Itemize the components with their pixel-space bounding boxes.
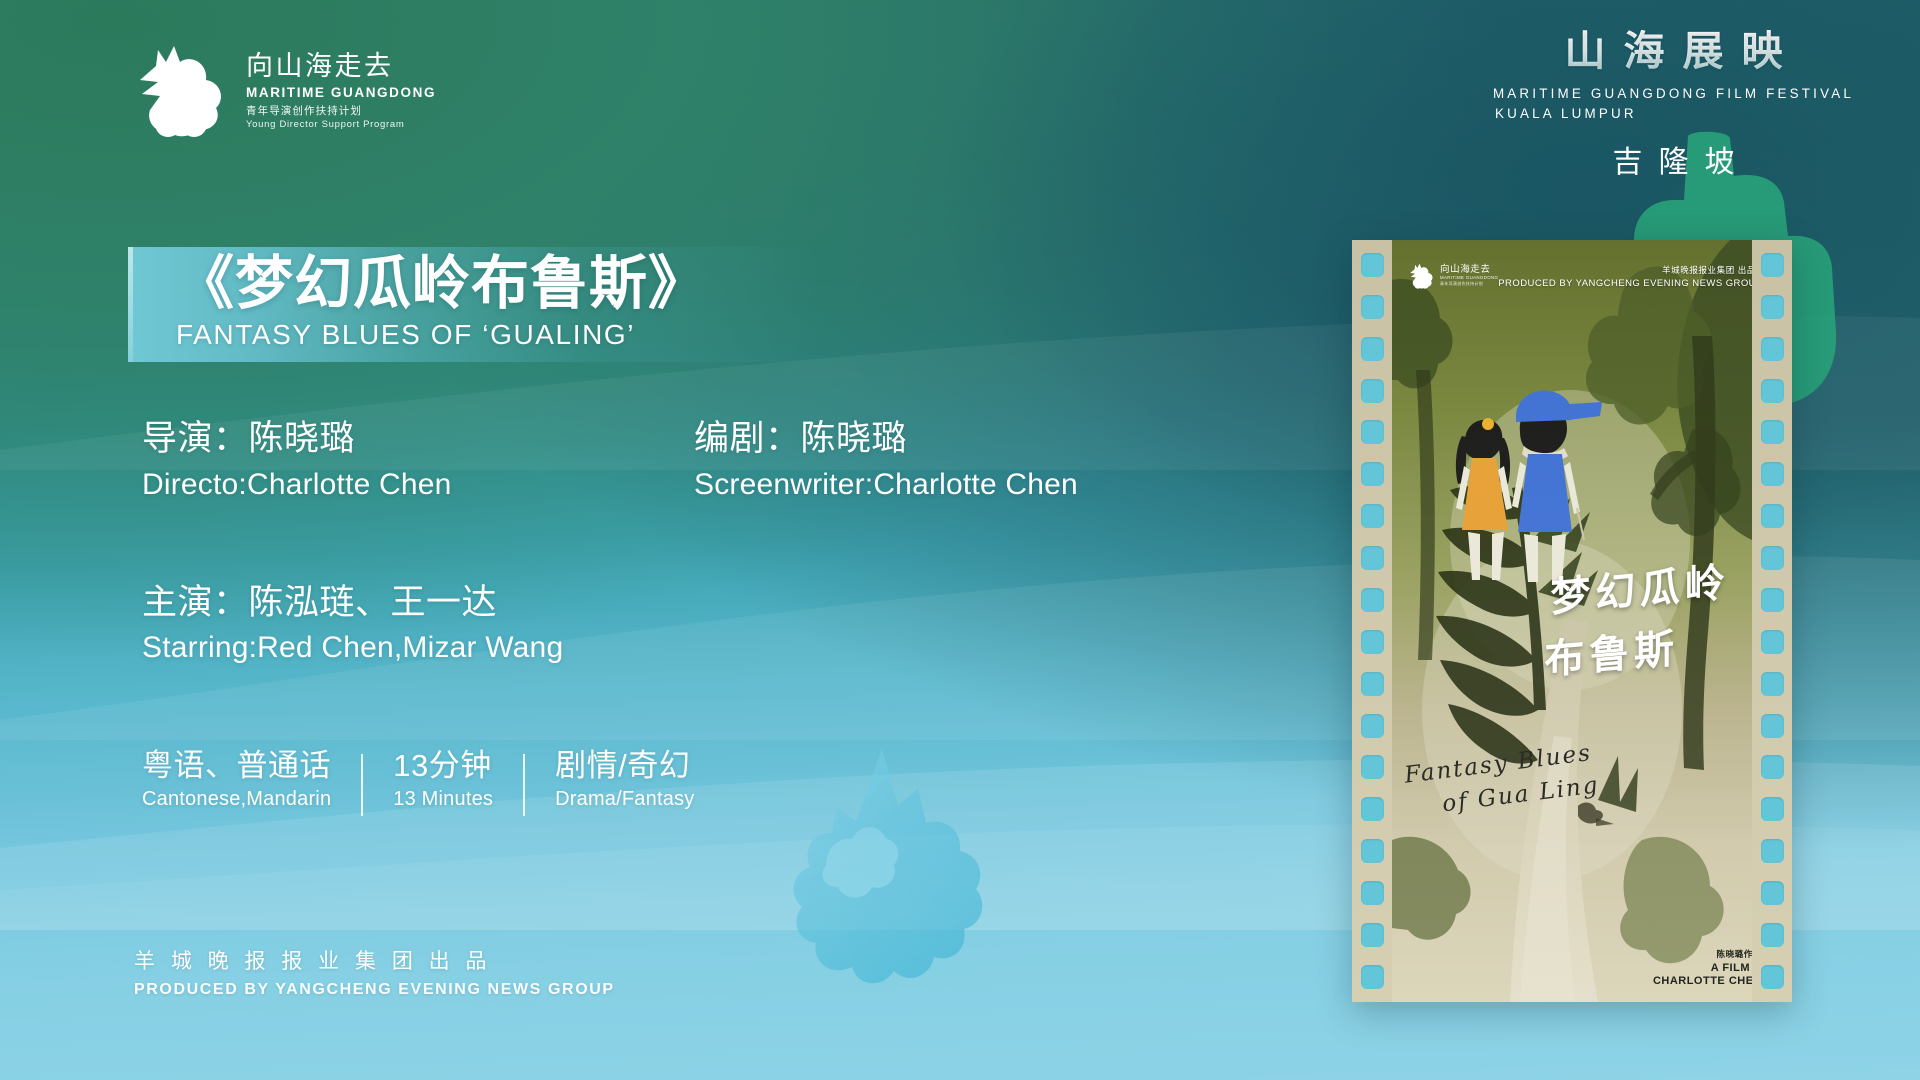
poster-title-cn: 梦幻瓜岭 布鲁斯	[1550, 570, 1740, 672]
poster-director-credit: 陈晓璐作品 A FILM B CHARLOTTE CHEN	[1653, 948, 1752, 988]
poster-cloud-mountain-logo-icon	[1408, 262, 1435, 289]
film-perforation	[1761, 881, 1784, 905]
poster-director-cn: 陈晓璐作品	[1653, 948, 1752, 960]
film-perforations-right	[1757, 240, 1787, 1002]
film-perforation	[1361, 546, 1384, 570]
credit-screenwriter-en: Screenwriter:Charlotte Chen	[694, 465, 1078, 504]
film-perforation	[1761, 923, 1784, 947]
credit-starring-cn: 主演：陈泓琏、王一达	[142, 582, 563, 625]
credit-director: 导演：陈晓璐 Directo:Charlotte Chen	[142, 418, 694, 504]
film-perforation	[1361, 588, 1384, 612]
cloud-watermark-icon	[782, 745, 992, 1010]
credit-row: 主演：陈泓琏、王一达 Starring:Red Chen,Mizar Wang	[142, 582, 1272, 668]
festival-name-cn: 山海展映	[1493, 30, 1854, 73]
film-perforation	[1361, 295, 1384, 319]
film-title-en: FANTASY BLUES OF ‘GUALING’	[176, 319, 707, 351]
film-perforation	[1361, 420, 1384, 444]
meta-duration-cn: 13分钟	[393, 748, 493, 785]
credit-screenwriter: 编剧：陈晓璐 Screenwriter:Charlotte Chen	[694, 418, 1078, 504]
meta-duration-en: 13 Minutes	[393, 788, 493, 811]
meta-divider	[523, 754, 525, 816]
meta-genre: 剧情/奇幻 Drama/Fantasy	[555, 748, 694, 811]
brand-subtitle-cn: 青年导演创作扶持计划	[246, 106, 436, 117]
credit-director-cn: 导演：陈晓璐	[142, 418, 694, 461]
credit-director-en: Directo:Charlotte Chen	[142, 465, 694, 504]
meta-divider	[361, 754, 363, 816]
cloud-mountain-logo-icon	[132, 40, 230, 138]
film-perforation	[1761, 797, 1784, 821]
film-title-block: 《梦幻瓜岭布鲁斯》 FANTASY BLUES OF ‘GUALING’	[176, 252, 707, 351]
film-perforations-left	[1357, 240, 1387, 1002]
brand-name-en: MARITIME GUANGDONG	[246, 86, 436, 100]
film-perforation	[1761, 965, 1784, 989]
film-perforation	[1761, 504, 1784, 528]
film-perforation	[1361, 755, 1384, 779]
film-poster-strip[interactable]: 向山海走去 MARITIME GUANGDONG 青年导演创作扶持计划 羊城晚报…	[1352, 240, 1792, 1002]
film-perforation	[1761, 630, 1784, 654]
poster-brand-logo: 向山海走去 MARITIME GUANGDONG 青年导演创作扶持计划	[1408, 262, 1498, 289]
producer-credit: 羊 城 晚 报 报 业 集 团 出 品 PRODUCED BY YANGCHEN…	[134, 945, 615, 999]
poster-artwork: 向山海走去 MARITIME GUANGDONG 青年导演创作扶持计划 羊城晚报…	[1392, 240, 1752, 1002]
meta-language-cn: 粤语、普通话	[142, 748, 331, 785]
poster-producer-cn: 羊城晚报报业集团 出品	[1498, 264, 1752, 276]
credit-screenwriter-cn: 编剧：陈晓璐	[694, 418, 1078, 461]
festival-logo: 山海展映 MARITIME GUANGDONG FILM FESTIVAL KU…	[1493, 30, 1854, 181]
meta-genre-cn: 剧情/奇幻	[555, 748, 694, 785]
poster-producer-credit: 羊城晚报报业集团 出品 PRODUCED BY YANGCHENG EVENIN…	[1498, 264, 1752, 289]
film-perforation	[1761, 672, 1784, 696]
film-perforation	[1361, 253, 1384, 277]
producer-credit-cn: 羊 城 晚 报 报 业 集 团 出 品	[134, 945, 615, 975]
film-perforation	[1761, 462, 1784, 486]
film-perforation	[1761, 420, 1784, 444]
credits-block: 导演：陈晓璐 Directo:Charlotte Chen 编剧：陈晓璐 Scr…	[142, 418, 1272, 667]
poster-director-en1: A FILM B	[1653, 962, 1752, 975]
film-perforation	[1361, 714, 1384, 738]
meta-genre-en: Drama/Fantasy	[555, 788, 694, 811]
film-perforation	[1761, 253, 1784, 277]
poster-director-en2: CHARLOTTE CHEN	[1653, 975, 1752, 988]
film-perforation	[1361, 965, 1384, 989]
film-perforation	[1361, 630, 1384, 654]
film-perforation	[1761, 839, 1784, 863]
festival-city-cn: 吉隆坡	[1493, 137, 1854, 181]
film-meta-row: 粤语、普通话 Cantonese,Mandarin 13分钟 13 Minute…	[142, 748, 694, 816]
credit-starring: 主演：陈泓琏、王一达 Starring:Red Chen,Mizar Wang	[142, 582, 563, 668]
meta-language: 粤语、普通话 Cantonese,Mandarin	[142, 748, 331, 811]
credit-starring-en: Starring:Red Chen,Mizar Wang	[142, 628, 563, 667]
producer-credit-en: PRODUCED BY YANGCHENG EVENING NEWS GROUP	[134, 981, 615, 999]
festival-name-en: MARITIME GUANGDONG FILM FESTIVAL	[1493, 86, 1854, 101]
brand-name-cn: 向山海走去	[246, 53, 436, 80]
film-perforation	[1361, 337, 1384, 361]
meta-language-en: Cantonese,Mandarin	[142, 788, 331, 811]
film-perforation	[1361, 797, 1384, 821]
film-perforation	[1361, 462, 1384, 486]
poster-brand-cn: 向山海走去	[1440, 265, 1498, 275]
poster-producer-en: PRODUCED BY YANGCHENG EVENING NEWS GROU	[1498, 278, 1752, 289]
film-title-cn: 《梦幻瓜岭布鲁斯》	[176, 252, 707, 317]
film-perforation	[1361, 839, 1384, 863]
film-perforation	[1761, 755, 1784, 779]
poster-title-cn-line1: 梦幻瓜岭	[1550, 562, 1739, 619]
meta-duration: 13分钟 13 Minutes	[393, 748, 493, 811]
film-perforation	[1761, 546, 1784, 570]
film-perforation	[1361, 923, 1384, 947]
poster-brand-sub: 青年导演创作扶持计划	[1440, 282, 1498, 286]
poster-stage: 向山海走去 MARITIME GUANGDONG 青年导演创作扶持计划 Youn…	[0, 0, 1920, 1080]
film-perforation	[1761, 588, 1784, 612]
film-perforation	[1761, 295, 1784, 319]
film-perforation	[1361, 881, 1384, 905]
film-perforation	[1761, 337, 1784, 361]
brand-subtitle-en: Young Director Support Program	[246, 120, 436, 130]
credit-row: 导演：陈晓璐 Directo:Charlotte Chen 编剧：陈晓璐 Scr…	[142, 418, 1272, 504]
film-perforation	[1361, 672, 1384, 696]
brand-logo: 向山海走去 MARITIME GUANGDONG 青年导演创作扶持计划 Youn…	[132, 40, 436, 138]
festival-city-en: KUALA LUMPUR	[1493, 106, 1854, 121]
film-perforation	[1361, 504, 1384, 528]
film-perforation	[1761, 379, 1784, 403]
film-perforation	[1761, 714, 1784, 738]
film-perforation	[1361, 379, 1384, 403]
